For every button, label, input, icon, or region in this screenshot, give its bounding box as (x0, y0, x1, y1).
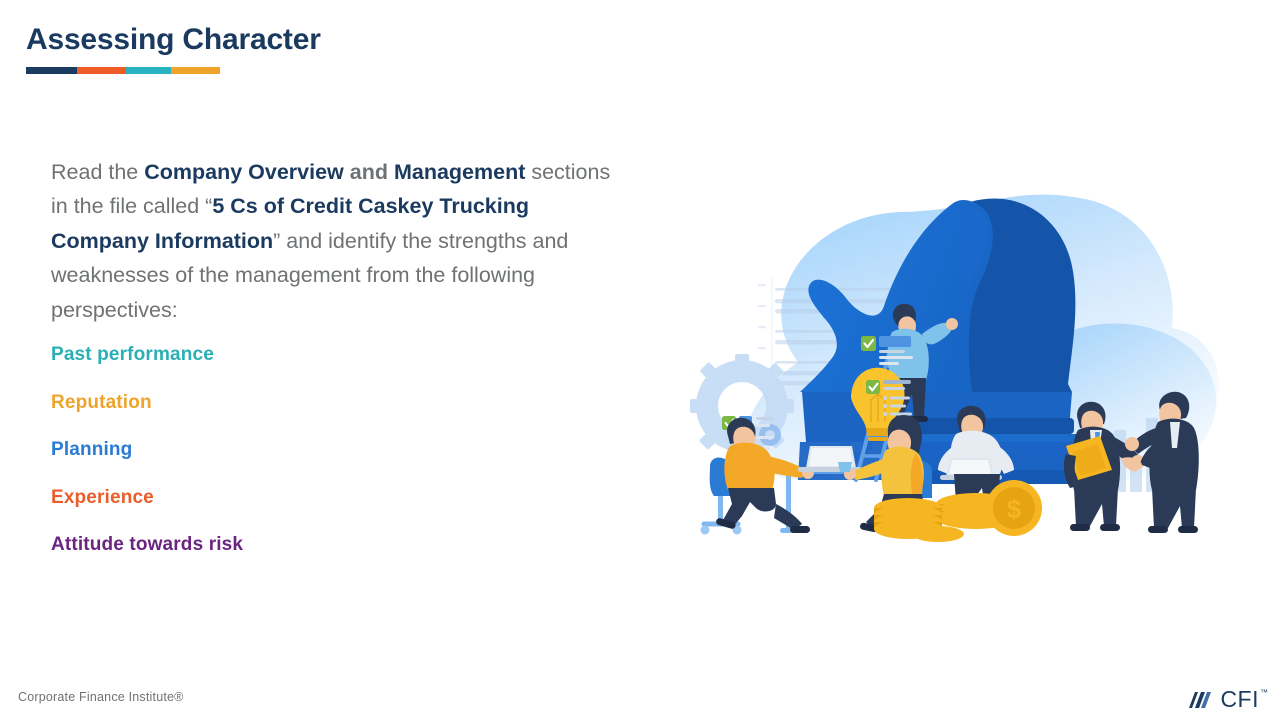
footer-copyright: Corporate Finance Institute® (18, 690, 184, 704)
body-run-management: Management (394, 160, 525, 184)
check-box-1 (861, 336, 876, 351)
bm-left-legs (1074, 488, 1118, 526)
perspective-item-experience: Experience (51, 487, 471, 509)
perspective-item-reputation: Reputation (51, 392, 471, 414)
accent-segment-teal (126, 67, 172, 74)
lightbulb-base (866, 428, 890, 436)
cfi-logo-mark-icon (1189, 688, 1217, 715)
body-run-and: and (344, 160, 394, 184)
ladder-person-hand (946, 318, 958, 330)
slide-canvas: Assessing Character Read the Company Ove… (0, 0, 1280, 720)
coin-small-right (912, 526, 964, 542)
cfi-logo-trademark: ™ (1260, 688, 1268, 698)
check-box-2 (866, 380, 880, 394)
body-run-1: Read the (51, 160, 144, 184)
chess-knight-illustration: $ (680, 178, 1225, 543)
coin-upright-dollar: $ (986, 480, 1042, 536)
title-block: Assessing Character (26, 18, 321, 74)
check-card-bar-1 (879, 336, 911, 347)
accent-segment-orange (77, 67, 126, 74)
perspective-item-past-performance: Past performance (51, 344, 471, 366)
instruction-paragraph: Read the Company Overview and Management… (51, 155, 631, 328)
perspectives-list: Past performance Reputation Planning Exp… (51, 344, 471, 582)
accent-segment-navy (26, 67, 77, 74)
bm-right-hand-upper (1125, 437, 1139, 451)
title-accent-bar (26, 67, 220, 74)
coffee-cup (838, 462, 852, 472)
cfi-logo-wordmark: CFI (1220, 688, 1259, 711)
page-title: Assessing Character (26, 18, 321, 62)
knight-collar-upper (916, 418, 1074, 434)
perspective-item-attitude-towards-risk: Attitude towards risk (51, 534, 471, 556)
cfi-logo: CFI ™ (1189, 688, 1268, 714)
bm-right-legs (1152, 488, 1196, 528)
body-run-company-overview: Company Overview (144, 160, 344, 184)
accent-segment-amber (171, 67, 220, 74)
dollar-sign-icon: $ (1007, 494, 1022, 524)
lightbulb-screw (868, 437, 888, 441)
perspective-item-planning: Planning (51, 439, 471, 461)
